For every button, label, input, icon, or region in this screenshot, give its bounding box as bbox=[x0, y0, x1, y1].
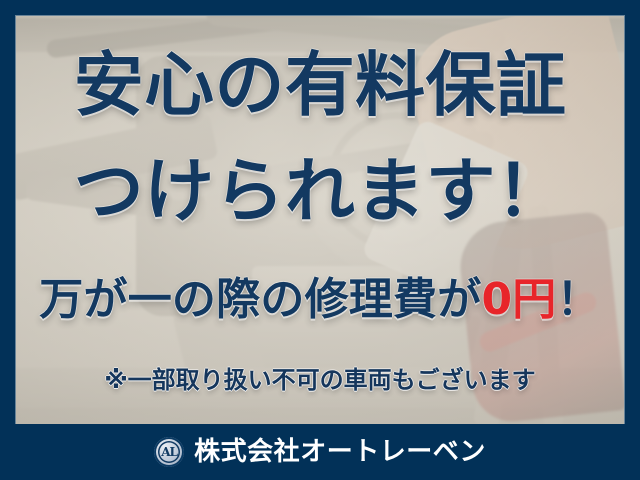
photo-frame: 安心の有料保証 つけられます！ 万が一の際の修理費が0円！ ※一部取り扱い不可の… bbox=[16, 16, 624, 424]
subheadline-prefix: 万が一の際の修理費が bbox=[39, 274, 481, 325]
headline-line-1: 安心の有料保証 bbox=[16, 50, 624, 120]
company-name: 株式会社オートレーベン bbox=[194, 439, 486, 465]
disclaimer-note: ※一部取り扱い不可の車両もございます bbox=[16, 368, 624, 392]
logo-monogram: AL bbox=[154, 437, 184, 467]
auto-leben-emblem-icon: AL bbox=[154, 437, 184, 467]
subheadline-suffix: ！ bbox=[557, 274, 601, 325]
subheadline: 万が一の際の修理費が0円！ bbox=[16, 278, 624, 322]
subheadline-highlight-zero-yen: 0円 bbox=[481, 274, 556, 325]
text-layer: 安心の有料保証 つけられます！ 万が一の際の修理費が0円！ ※一部取り扱い不可の… bbox=[16, 16, 624, 424]
headline-line-2: つけられます！ bbox=[16, 156, 624, 226]
promo-poster: 安心の有料保証 つけられます！ 万が一の際の修理費が0円！ ※一部取り扱い不可の… bbox=[0, 0, 640, 480]
footer-bar: AL 株式会社オートレーベン bbox=[0, 424, 640, 480]
